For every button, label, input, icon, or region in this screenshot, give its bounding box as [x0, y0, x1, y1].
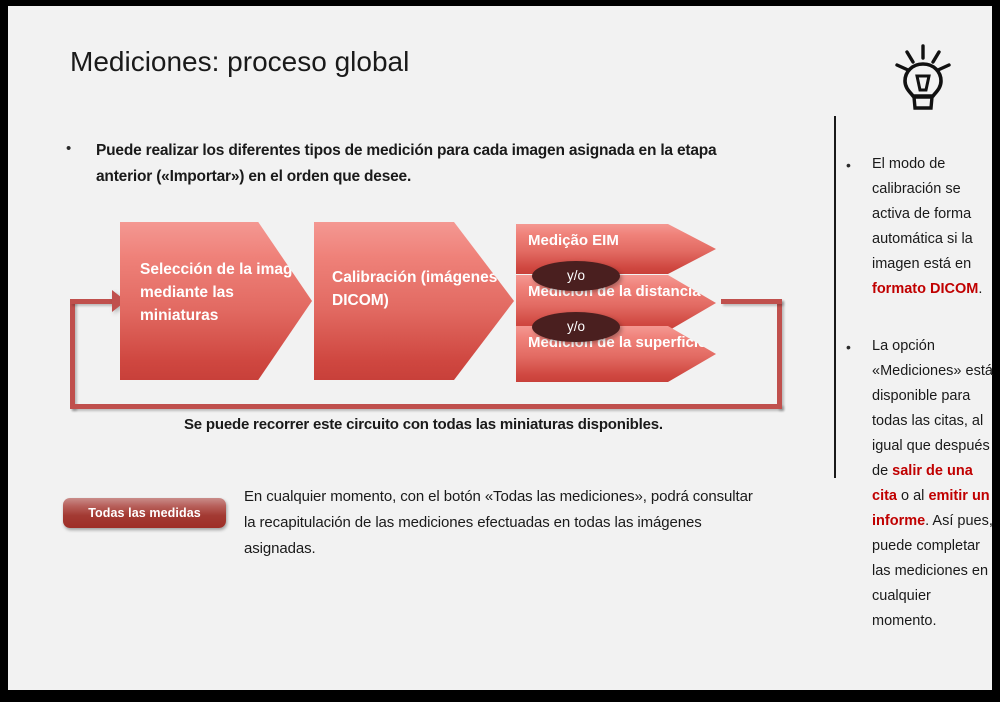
- page-title: Mediciones: proceso global: [70, 46, 409, 78]
- flow-caption: Se puede recorrer este circuito con toda…: [184, 416, 663, 433]
- flow-step-2[interactable]: Calibración (imágenes DICOM): [314, 222, 514, 380]
- loop-left-segment: [70, 299, 75, 409]
- sidebar-note-2-marker: •: [846, 335, 851, 360]
- loop-top-left-segment: [70, 299, 116, 304]
- loop-right-segment: [777, 299, 782, 409]
- sidebar-note-1-marker: •: [846, 153, 851, 178]
- flow-step-1[interactable]: Selección de la imagen mediante las mini…: [120, 222, 312, 380]
- flow-step-2-label: Calibración (imágenes DICOM): [332, 266, 514, 312]
- sidebar-note-2-text: La opción «Mediciones» está disponible p…: [872, 334, 998, 634]
- bottom-paragraph: En cualquier momento, con el botón «Toda…: [244, 484, 764, 562]
- bullet-marker: •: [66, 141, 71, 156]
- process-flow-diagram: Selección de la imagen mediante las mini…: [8, 6, 992, 690]
- sidebar-note-1: • El modo de calibración se activa de fo…: [846, 152, 998, 302]
- sidebar-divider: [834, 116, 836, 478]
- flow-step-1-label: Selección de la imagen mediante las mini…: [140, 258, 312, 327]
- sidebar-note-2: • La opción «Mediciones» está disponible…: [846, 334, 998, 634]
- lightbulb-icon: [892, 42, 954, 114]
- connector-badge-2: y/o: [532, 312, 620, 342]
- main-bullet: • Puede realizar los diferentes tipos de…: [66, 138, 771, 190]
- slide-canvas: Mediciones: proceso global • Puede reali…: [8, 6, 992, 690]
- loop-top-right-segment: [721, 299, 782, 304]
- sidebar-note-1-text: El modo de calibración se activa de form…: [872, 152, 998, 302]
- loop-bottom-segment: [70, 404, 782, 409]
- connector-badge-1: y/o: [532, 261, 620, 291]
- main-bullet-text: Puede realizar los diferentes tipos de m…: [96, 138, 771, 190]
- todas-las-medidas-button[interactable]: Todas las medidas: [63, 498, 226, 528]
- measure-arrow-1-label: Medição EIM: [528, 230, 716, 252]
